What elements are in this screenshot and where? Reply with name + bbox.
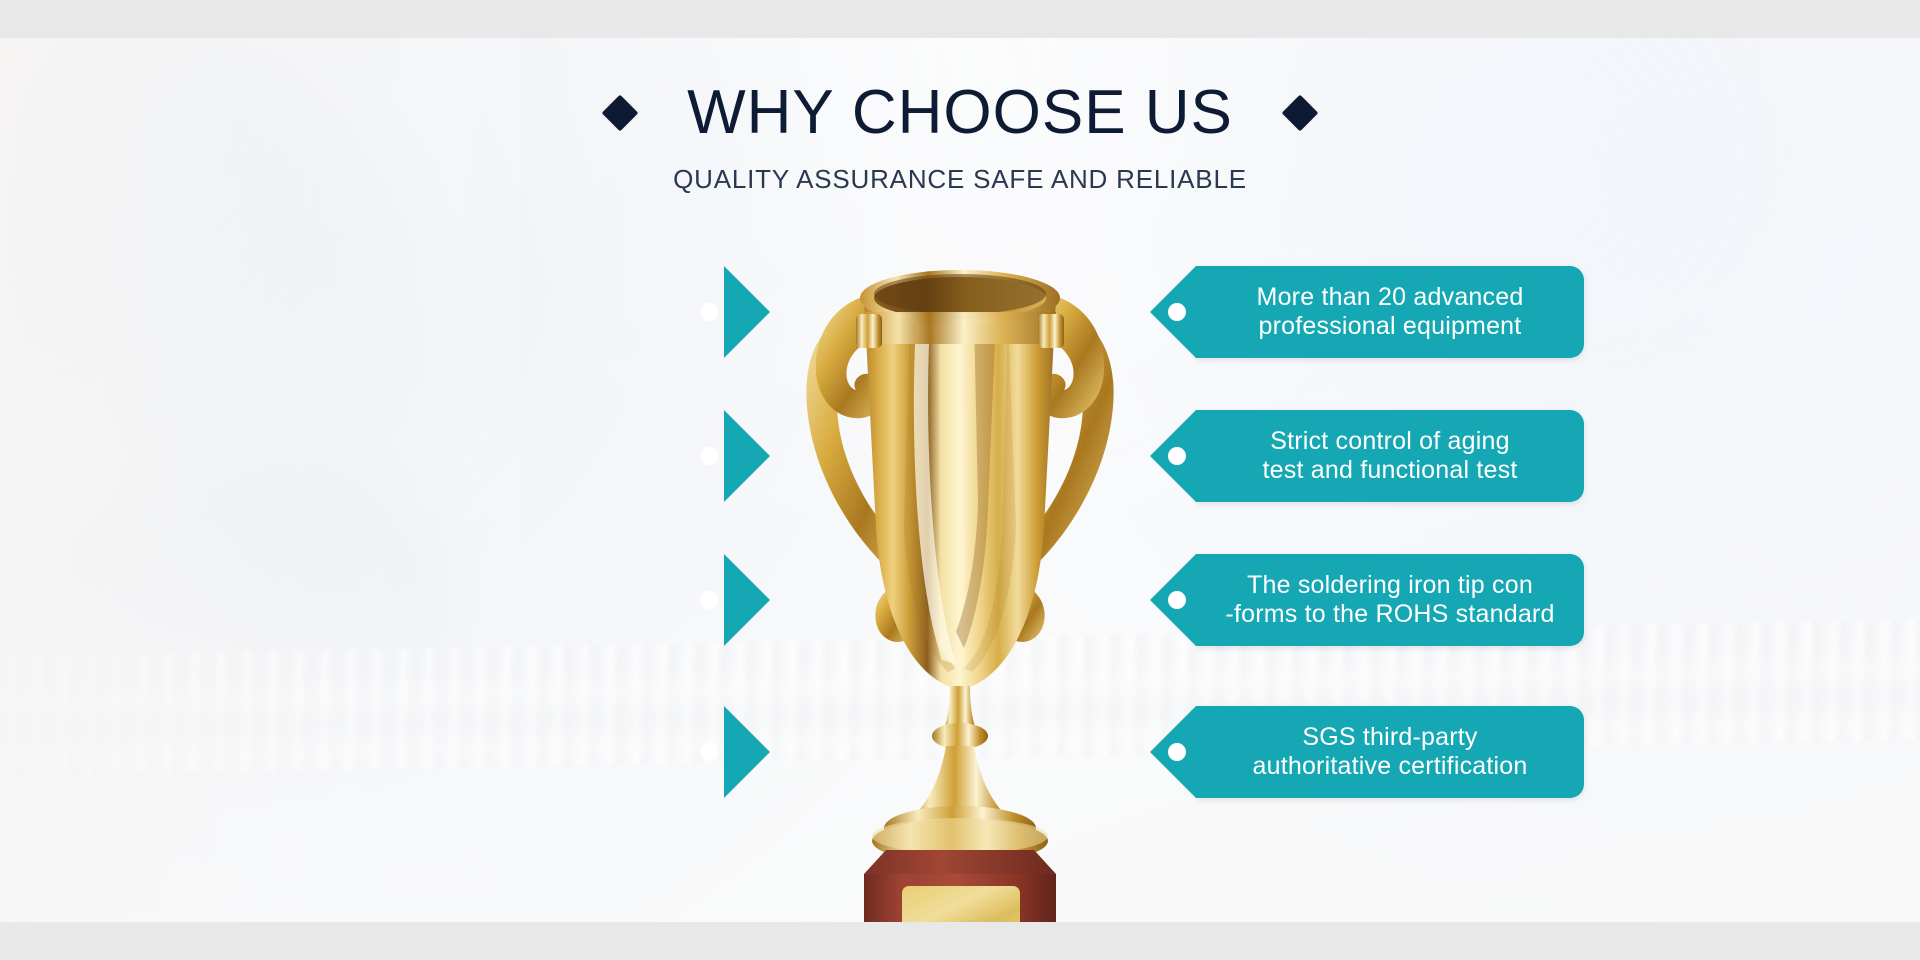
- badge-left-3-dot-icon: [700, 591, 718, 609]
- badge-left-1-tip: [724, 266, 770, 358]
- badge-line-2: appearance patents: [418, 600, 643, 628]
- badge-line-1: More than 30 R&D: [425, 427, 635, 455]
- letterbox-bottom: [0, 922, 1920, 960]
- badge-right-1-dot-icon: [1168, 303, 1186, 321]
- badge-line-2: authoritative certification: [1253, 752, 1528, 780]
- badge-line-2: technicians: [466, 456, 593, 484]
- badge-line-2: manufacturer: [455, 312, 605, 340]
- badge-right-2[interactable]: Strict control of agingtest and function…: [1196, 410, 1584, 502]
- badge-left-3[interactable]: Nearly ten utility modelappearance paten…: [336, 554, 724, 646]
- badge-left-2[interactable]: More than 30 R&Dtechnicians: [336, 410, 724, 502]
- badge-left-1-dot-icon: [700, 303, 718, 321]
- badge-right-3[interactable]: The soldering iron tip con-forms to the …: [1196, 554, 1584, 646]
- badge-line-2: -forms to the ROHS standard: [1225, 600, 1554, 628]
- badge-left-4[interactable]: 3500 square metersproduction workshop: [336, 706, 724, 798]
- badge-right-2-dot-icon: [1168, 447, 1186, 465]
- badge-line-1: More than 20 advanced: [1257, 283, 1524, 311]
- badge-line-2: professional equipment: [1259, 312, 1522, 340]
- badge-line-1: OEM/ODM/OBM: [436, 283, 624, 311]
- banner-screen: WHY CHOOSE US QUALITY ASSURANCE SAFE AND…: [0, 0, 1920, 960]
- badge-line-1: Strict control of aging: [1270, 427, 1509, 455]
- badge-left-2-dot-icon: [700, 447, 718, 465]
- badge-line-2: test and functional test: [1263, 456, 1518, 484]
- badge-left-4-tip: [724, 706, 770, 798]
- badge-right-1[interactable]: More than 20 advancedprofessional equipm…: [1196, 266, 1584, 358]
- badge-line-1: SGS third-party: [1302, 723, 1477, 751]
- badge-left-4-dot-icon: [700, 743, 718, 761]
- badge-line-1: 3500 square meters: [417, 723, 643, 751]
- badge-line-2: production workshop: [413, 752, 648, 780]
- badge-line-1: The soldering iron tip con: [1247, 571, 1533, 599]
- feature-badge-grid: OEM/ODM/OBMmanufacturer More than 30 R&D…: [0, 38, 1920, 922]
- badge-left-1[interactable]: OEM/ODM/OBMmanufacturer: [336, 266, 724, 358]
- badge-left-2-tip: [724, 410, 770, 502]
- badge-right-4-dot-icon: [1168, 743, 1186, 761]
- badge-left-3-tip: [724, 554, 770, 646]
- banner-stage: WHY CHOOSE US QUALITY ASSURANCE SAFE AND…: [0, 38, 1920, 922]
- badge-right-3-dot-icon: [1168, 591, 1186, 609]
- letterbox-top: [0, 0, 1920, 38]
- badge-right-4[interactable]: SGS third-partyauthoritative certificati…: [1196, 706, 1584, 798]
- badge-line-1: Nearly ten utility model: [401, 571, 659, 599]
